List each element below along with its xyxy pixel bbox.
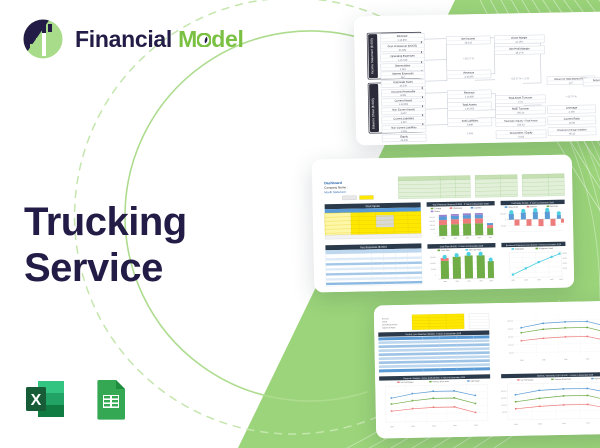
diagram-node: Receivables / Equity 0.022 [496,130,546,139]
svg-text:Revenue: Revenue [397,34,408,38]
svg-text:Total Asset Turnover: Total Asset Turnover [508,95,532,99]
brand-model-del: del [211,26,243,52]
svg-text:Salaries & Wages: Salaries & Wages [382,326,396,329]
svg-text:Cash Flow: Cash Flow [441,250,450,252]
dashboard-screenshot: Dashboard Company Name : Month Statement [312,155,575,293]
svg-text:Operating Expenses: Operating Expenses [390,54,415,58]
svg-text:2027: 2027 [550,279,554,281]
diagram-node: Cost of Revenue (COGS) 91,686 [380,43,424,52]
svg-text:100,000: 100,000 [508,344,514,346]
svg-text:Leverage: Leverage [566,106,578,110]
svg-text:200,000: 200,000 [429,217,435,219]
svg-text:2024: 2024 [511,280,515,282]
diagram-node: Financial Leverage multiplier 95.13 [548,127,596,136]
svg-text:=18.17 % × 2.31: =18.17 % × 2.31 [511,77,530,80]
svg-text:50,000: 50,000 [431,229,436,231]
diagram-node: Net Profit Margin 18.17% [494,46,544,55]
svg-text:150,000: 150,000 [501,397,507,399]
diagram-node: Current Assets 1,02,806 [381,98,425,106]
dashboard-green-table-2 [475,175,517,198]
svg-text:-50,000: -50,000 [501,225,506,227]
dupont-analysis-diagram-card[interactable]: Income Statement ($ 000) Balance Sheet (… [354,12,600,146]
svg-text:X: X [31,392,42,409]
svg-text:2025: 2025 [524,279,528,281]
svg-text:Others: Others [434,210,440,213]
svg-text:13.7: 13.7 [569,81,574,84]
page-title: Trucking Service [24,199,187,291]
svg-text:3,997: 3,997 [401,121,408,124]
svg-text:2027: 2027 [453,425,457,427]
diagram-node: Non-Current Liabilities 2,291 [382,125,426,133]
svg-text:2.456: 2.456 [569,110,576,113]
svg-text:2,16,850: 2,16,850 [464,75,474,78]
google-sheets-file-icon[interactable] [88,376,134,422]
svg-text:165.53: 165.53 [517,123,525,126]
svg-text:=13.70 %: =13.70 % [566,95,577,98]
projections-screenshot: Revenue COGS Operating Expenses Salaries… [374,300,600,438]
diagram-node: Current Liabilities 3,997 [382,116,426,124]
svg-text:40,000: 40,000 [562,253,567,255]
svg-text:Key Expenses ($ 000): Key Expenses ($ 000) [360,245,387,250]
brand-word-model: Mdel [178,26,243,52]
svg-text:100,000: 100,000 [501,404,507,406]
svg-text:Operating Expenses: Operating Expenses [382,323,398,326]
diagram-node: Depreciation 1,481 [381,63,425,71]
file-format-icons: X [22,376,134,422]
diagram-node: Net Income 38,443 [446,36,490,45]
page-title-line-2: Service [24,245,187,291]
svg-text:COGS: COGS [382,321,388,323]
svg-text:1,05,503: 1,05,503 [465,107,475,110]
svg-text:2028: 2028 [559,279,563,281]
svg-text:38,443: 38,443 [465,41,473,44]
svg-text:100,000: 100,000 [430,263,436,265]
svg-text:2024: 2024 [390,426,394,428]
svg-text:Employees: Employees [515,248,524,250]
dashboard-green-table [398,175,470,198]
svg-text:Trucking: Trucking [434,208,441,210]
svg-text:5,988: 5,988 [467,123,474,126]
svg-text:Net Income: Net Income [461,36,475,40]
svg-text:10,000: 10,000 [563,268,568,270]
dupont-flowchart: Income Statement ($ 000) Balance Sheet (… [354,12,600,146]
financial-model-circle-chart-logo [22,18,64,60]
svg-text:Gross Margin: Gross Margin [511,35,528,39]
svg-text:Net Cash Flow: Net Cash Flow [469,248,482,251]
svg-text:95.13: 95.13 [569,132,576,135]
svg-text:Logistics: Logistics [474,206,481,209]
svg-text:26.08: 26.08 [569,121,576,124]
svg-text:Revenue: Revenue [463,70,474,74]
diagram-node: Corporate Taxes 10,539 [381,80,425,88]
svg-text:Month Statement: Month Statement [324,190,346,194]
svg-text:2027: 2027 [479,280,483,282]
diagram-node: Total Liabilities 5,988 [448,118,492,127]
svg-text:100,000: 100,000 [430,225,436,227]
svg-text:2,16,850: 2,16,850 [398,39,408,42]
svg-text:Net Profit: Net Profit [550,205,558,208]
svg-text:2.31: 2.31 [518,100,523,103]
svg-text:Current Ratio: Current Ratio [564,116,581,120]
svg-text:Warehouse: Warehouse [453,208,462,210]
svg-text:2027: 2027 [478,237,482,239]
svg-text:Financial Leverage multiplier: Financial Leverage multiplier [557,128,587,132]
diagram-node: Non-Current Assets 2,697 [382,107,426,115]
svg-text:Revenue: Revenue [382,318,389,320]
svg-text:Return on Equity (ROE): Return on Equity (ROE) [593,79,600,83]
svg-text:2025: 2025 [454,238,458,240]
svg-text:1,481: 1,481 [400,68,407,71]
svg-text:150,000: 150,000 [430,257,436,259]
svg-text:2026: 2026 [562,423,566,425]
svg-text:8,981: 8,981 [400,94,407,97]
svg-text:Cost of Revenue (COGS): Cost of Revenue (COGS) [388,44,418,49]
svg-text:200,000: 200,000 [508,328,514,330]
diagram-node: Leverage 2.456 [548,105,596,114]
svg-text:Net Profit Margin: Net Profit Margin [521,378,534,381]
svg-text:2026: 2026 [466,237,470,239]
svg-text:41.15%: 41.15% [515,40,524,43]
key-expenses-table: Key Expenses ($ 000) [325,243,422,286]
svg-text:2025: 2025 [542,359,546,361]
svg-text:200,000: 200,000 [501,390,507,392]
svg-text:2024: 2024 [514,424,518,426]
diagram-node: ROE Turnover 205.24 [496,106,546,115]
ebitda-line-chart: 250,000200,000 150,000100,000 50,000 [500,311,600,365]
diagram-node: Revenue 2,16,850 [447,70,491,79]
svg-text:Balance Sheet ($ 000): Balance Sheet ($ 000) [371,98,376,129]
svg-text:=18.17 %: =18.17 % [463,57,474,60]
svg-text:Net Profit Margin: Net Profit Margin [509,46,530,50]
svg-text:2024: 2024 [520,360,524,362]
svg-text:Breakeven Count: Breakeven Count [539,247,553,250]
diagram-node: Interest Expenses 657 [381,71,425,79]
page-title-line-1: Trucking [24,199,187,245]
svg-text:2026: 2026 [537,279,541,281]
diagram-node: Total Asset Turnover 2.31 [495,95,545,104]
svg-text:18.17%: 18.17% [515,51,524,54]
projections-charts-card[interactable]: Revenue COGS Operating Expenses Salaries… [374,300,600,438]
svg-text:2026: 2026 [432,425,436,427]
brand-word-financial: Financial [75,26,172,52]
svg-text:Income Statement ($ 000): Income Statement ($ 000) [370,38,375,74]
cost-inputs-table: Cost Inputs [325,202,422,239]
svg-text:Receivables / Equity: Receivables / Equity [510,131,533,134]
svg-text:Cost Inputs: Cost Inputs [366,204,381,208]
financial-dashboard-card[interactable]: Dashboard Company Name : Month Statement [312,155,575,293]
diagram-node: Current Ratio 26.08 [548,116,596,125]
svg-text:40,235: 40,235 [400,139,408,142]
svg-text:2028: 2028 [489,280,493,282]
svg-text:2024: 2024 [443,281,447,283]
diagram-node: Gross Margin 41.15% [494,35,544,44]
svg-text:Revenue Gross Profit: Revenue Gross Profit [555,378,572,381]
svg-text:2,291: 2,291 [401,130,408,133]
diagram-node: Equity 40,235 [382,134,426,142]
svg-text:Total Assets: Total Assets [462,102,477,106]
excel-file-icon[interactable]: X [22,376,68,422]
brand-model-m: M [178,26,197,52]
svg-text:2027: 2027 [586,422,590,424]
brand-leaf-o-icon [197,33,211,47]
svg-text:High Margin: High Margin [595,377,600,380]
svg-text:250,000: 250,000 [508,320,514,322]
svg-text:20,000: 20,000 [563,263,568,265]
svg-text:Revenue: Revenue [464,90,475,94]
svg-text:2028: 2028 [489,237,493,239]
svg-text:150,000: 150,000 [500,213,506,215]
svg-text:2025: 2025 [411,426,415,428]
svg-text:2025: 2025 [455,281,459,283]
diagram-node: Revenue 2,16,850 [380,33,424,42]
diagram-node: Total Debt / Equity + Total Assets 165.5… [496,118,546,127]
svg-text:2028: 2028 [474,425,478,427]
svg-text:150,000: 150,000 [430,221,436,223]
brand-logo: Financial Mdel [22,18,244,60]
svg-text:1,21,548: 1,21,548 [398,59,408,62]
svg-text:1,02,806: 1,02,806 [399,103,409,106]
diagram-node: Accounts Receivable 8,981 [381,89,425,97]
diagram-node-roe: Return on Equity (ROE) 48.23 [583,77,600,86]
diagram-node: Revenue 2,16,850 [447,90,491,99]
svg-text:2026: 2026 [564,359,568,361]
dashboard-green-table-3 [522,174,564,197]
svg-text:91,686: 91,686 [399,49,407,52]
svg-text:Net Profit Margin: Net Profit Margin [401,381,414,384]
svg-text:2.456: 2.456 [467,132,474,135]
poster-canvas: Financial Mdel Trucking Service X [0,0,600,448]
diagram-node: Total Assets 1,05,503 [447,102,491,111]
svg-text:50,000: 50,000 [502,411,507,413]
svg-text:EBITDA: EBITDA [530,205,537,208]
svg-text:ROE Turnover: ROE Turnover [512,106,529,110]
svg-text:Gross Profit: Gross Profit [508,206,518,209]
svg-text:2,16,850: 2,16,850 [465,95,475,98]
svg-text:50,000: 50,000 [509,352,514,354]
svg-text:2027: 2027 [586,358,590,360]
svg-text:2025: 2025 [538,423,542,425]
brand-wordmark: Financial Mdel [75,28,244,51]
svg-text:150,000: 150,000 [508,336,514,338]
diagram-node: Operating Expenses 1,21,548 [381,53,425,62]
svg-text:657: 657 [401,76,406,79]
svg-text:30,000: 30,000 [562,258,567,260]
svg-text:205.24: 205.24 [517,111,525,114]
svg-text:2,697: 2,697 [401,112,408,115]
svg-text:50,000: 50,000 [431,269,436,271]
svg-text:10,539: 10,539 [399,84,407,87]
svg-text:High Margin: High Margin [471,379,480,382]
svg-text:Total Liabilities: Total Liabilities [461,118,479,122]
svg-text:0.022: 0.022 [518,135,525,138]
svg-text:2024: 2024 [442,238,446,240]
svg-text:Revenue Gross Profit: Revenue Gross Profit [433,380,450,383]
svg-text:2026: 2026 [467,280,471,282]
